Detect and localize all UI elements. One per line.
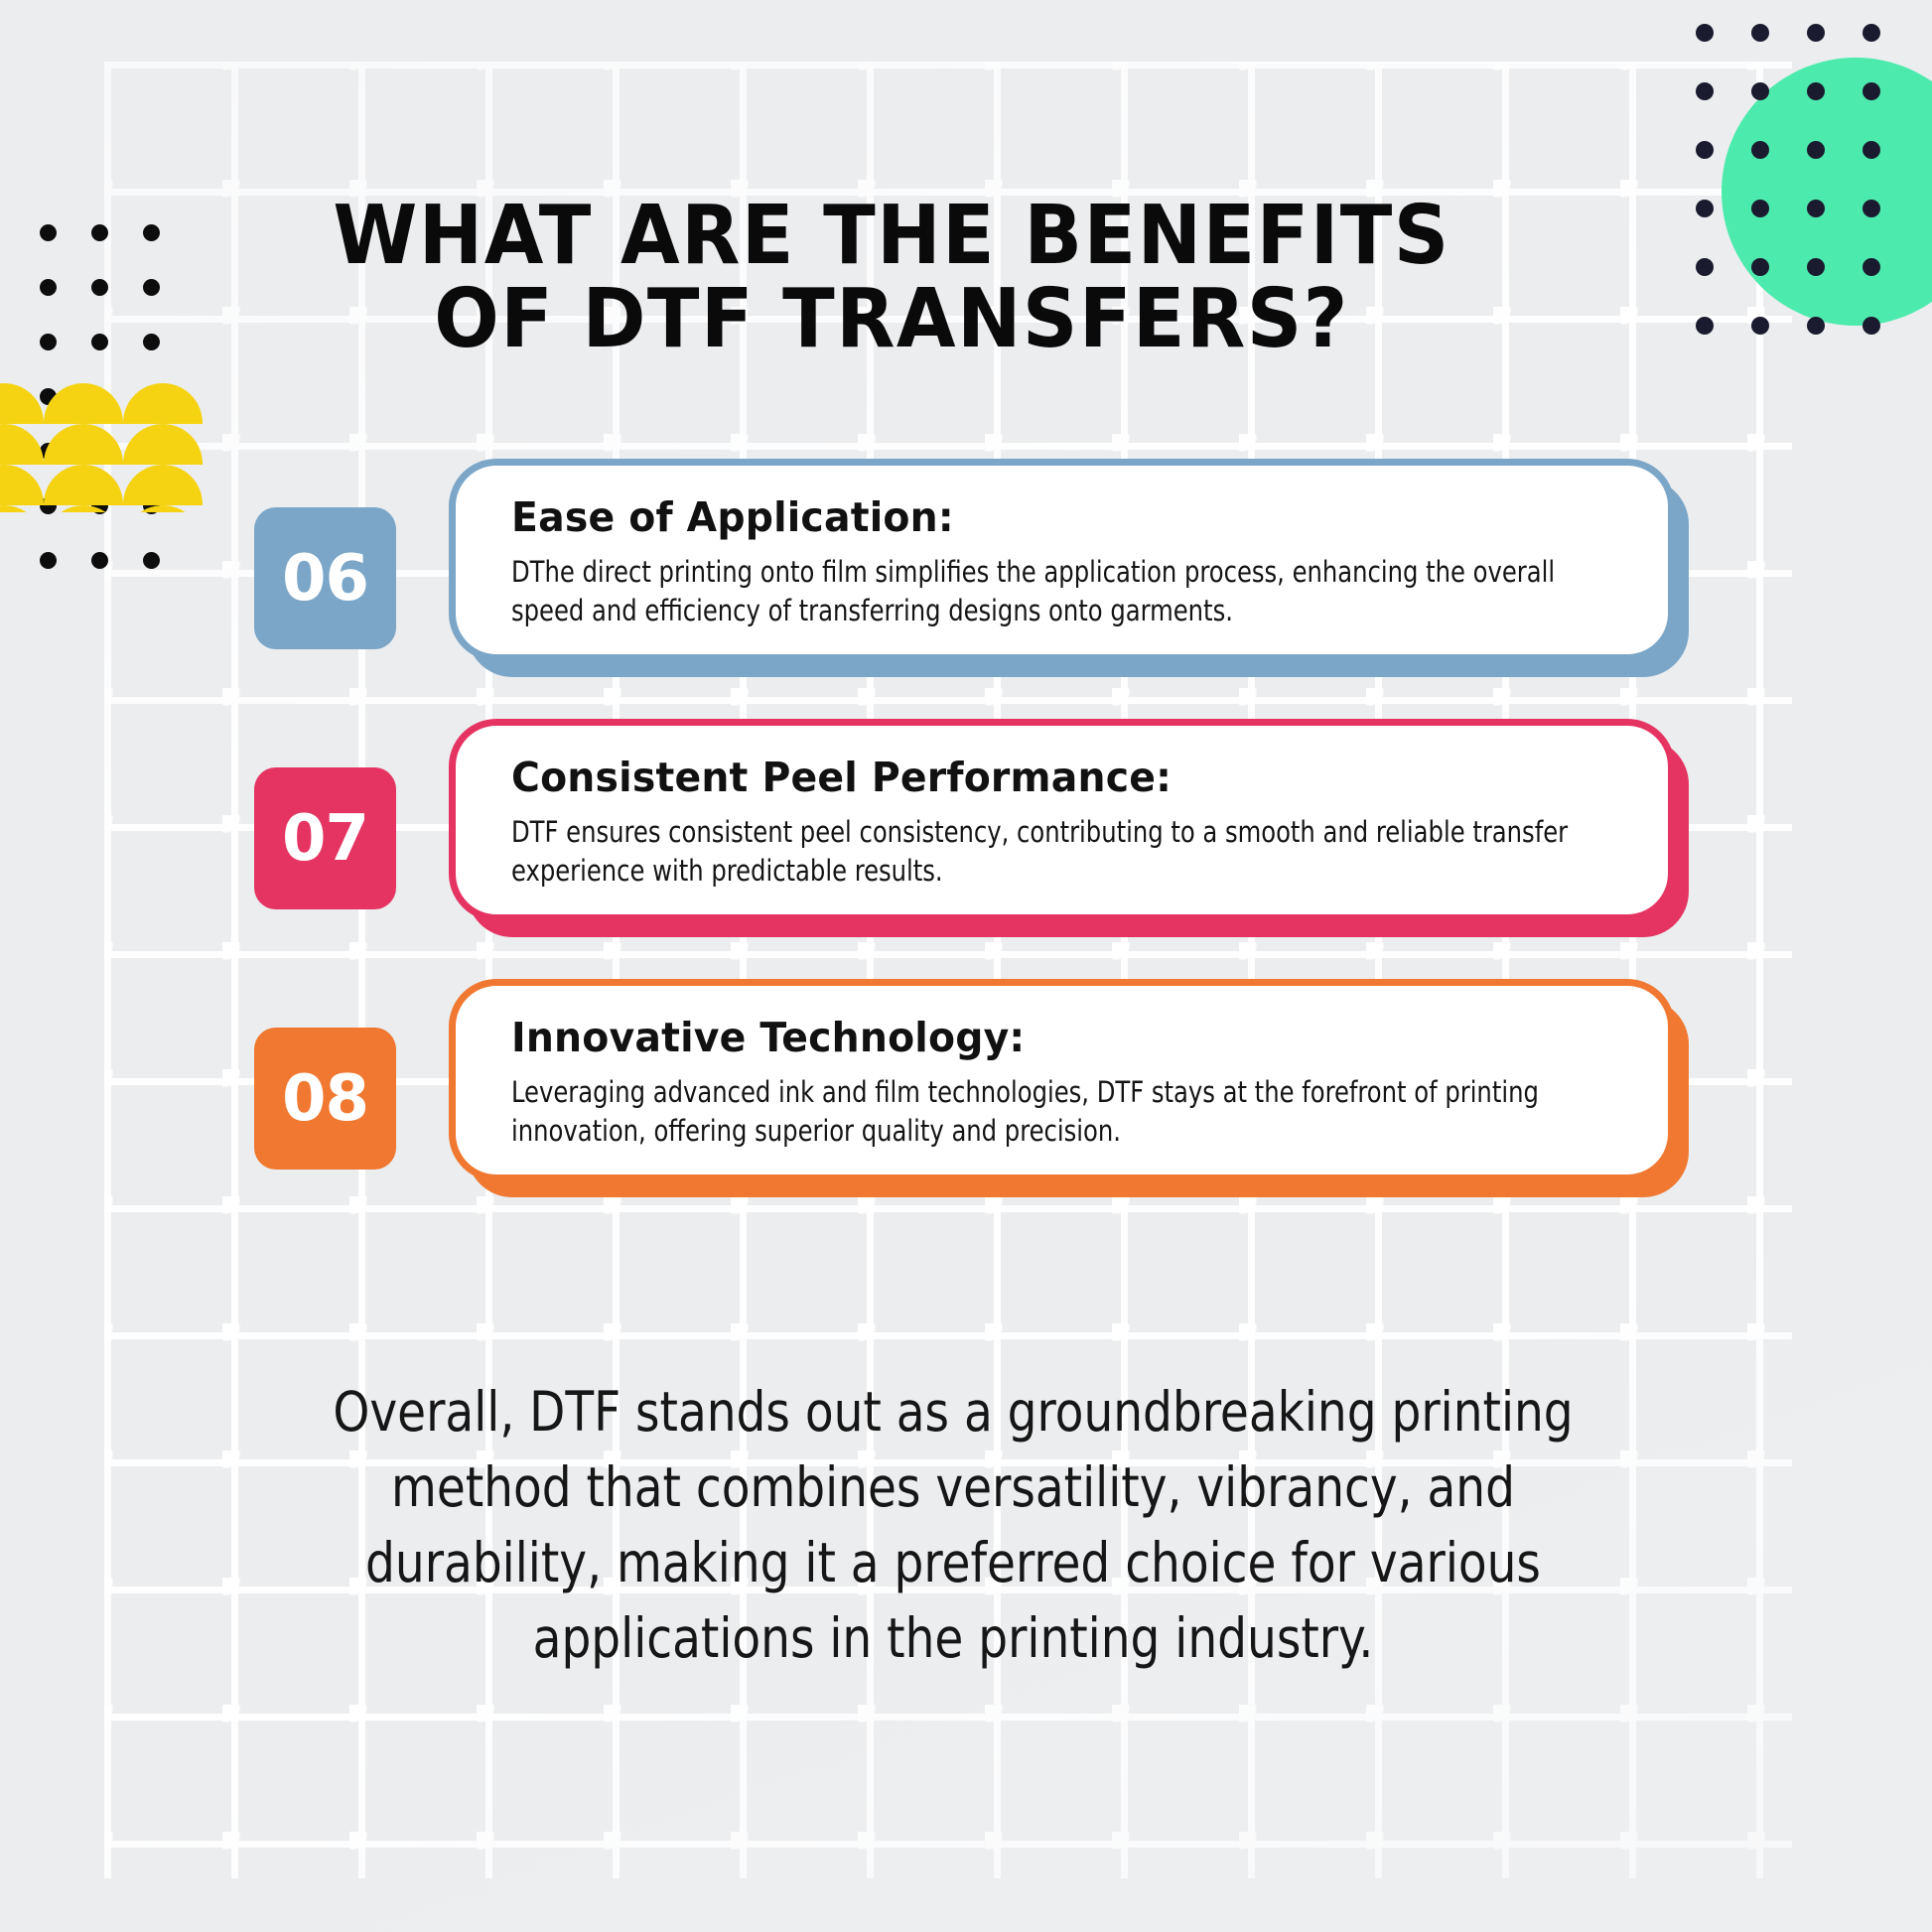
decorative-dot <box>1751 141 1769 159</box>
decorative-dot <box>1807 258 1825 276</box>
decorative-dot <box>1751 82 1769 100</box>
semicircle-shape <box>0 383 44 424</box>
decorative-dot <box>1807 317 1825 335</box>
decorative-dot <box>91 334 108 350</box>
card-number-label: 06 <box>282 542 368 616</box>
card-number-label: 07 <box>282 802 368 876</box>
card-body-text: DThe direct printing onto film simplifie… <box>511 553 1617 630</box>
decorative-dot <box>40 279 57 296</box>
card-number-badge: 08 <box>254 1028 396 1170</box>
card-body-text: DTF ensures consistent peel consistency,… <box>511 813 1617 891</box>
benefit-card-row: 08Innovative Technology:Leveraging advan… <box>0 979 1932 1239</box>
benefit-card[interactable]: Innovative Technology:Leveraging advance… <box>449 979 1675 1181</box>
infographic-canvas: WHAT ARE THE BENEFITS OF DTF TRANSFERS? … <box>0 0 1932 1932</box>
decorative-dot <box>1696 24 1714 42</box>
card-body-text: Leveraging advanced ink and film technol… <box>511 1073 1617 1151</box>
decorative-dot <box>1696 258 1714 276</box>
card-title: Consistent Peel Performance: <box>511 754 1578 801</box>
decorative-dot <box>1696 141 1714 159</box>
benefit-card-row: 06Ease of Application:DThe direct printi… <box>0 459 1932 719</box>
card-number-badge: 07 <box>254 767 396 909</box>
decorative-dot <box>1751 24 1769 42</box>
decorative-dot <box>1863 200 1880 217</box>
decorative-dot <box>1863 82 1880 100</box>
decorative-dot <box>1807 82 1825 100</box>
decorative-dot <box>1696 82 1714 100</box>
decorative-dot <box>1751 317 1769 335</box>
semicircle-shape <box>123 383 203 424</box>
decorative-dot <box>143 334 160 350</box>
decorative-dot <box>40 224 57 241</box>
benefit-card-list: 06Ease of Application:DThe direct printi… <box>0 459 1932 1239</box>
card-title: Ease of Application: <box>511 493 1578 541</box>
decorative-dot <box>1863 258 1880 276</box>
card-number-label: 08 <box>282 1062 368 1136</box>
card-title: Innovative Technology: <box>511 1014 1578 1061</box>
decorative-dot <box>1807 24 1825 42</box>
decorative-dot <box>1696 317 1714 335</box>
decorative-dot <box>143 279 160 296</box>
benefit-card-row: 07Consistent Peel Performance:DTF ensure… <box>0 719 1932 979</box>
decorative-dot <box>91 279 108 296</box>
semicircle-row <box>0 383 203 424</box>
decorative-dot <box>1863 141 1880 159</box>
summary-paragraph: Overall, DTF stands out as a groundbreak… <box>274 1375 1632 1677</box>
decorative-dot <box>143 224 160 241</box>
decorative-dot <box>1807 200 1825 217</box>
decorative-dot <box>1751 258 1769 276</box>
decorative-dot <box>40 334 57 350</box>
benefit-card[interactable]: Consistent Peel Performance:DTF ensures … <box>449 719 1675 921</box>
decorative-dot <box>1696 200 1714 217</box>
decorative-dot <box>1751 200 1769 217</box>
card-number-badge: 06 <box>254 507 396 649</box>
decorative-dot <box>1863 24 1880 42</box>
decorative-dot <box>91 224 108 241</box>
semicircle-shape <box>44 383 123 424</box>
dot-grid-top-right-decoration <box>1696 24 1918 375</box>
benefit-card[interactable]: Ease of Application:DThe direct printing… <box>449 459 1675 661</box>
decorative-dot <box>1807 141 1825 159</box>
page-title: WHAT ARE THE BENEFITS OF DTF TRANSFERS? <box>262 195 1522 360</box>
decorative-dot <box>1863 317 1880 335</box>
